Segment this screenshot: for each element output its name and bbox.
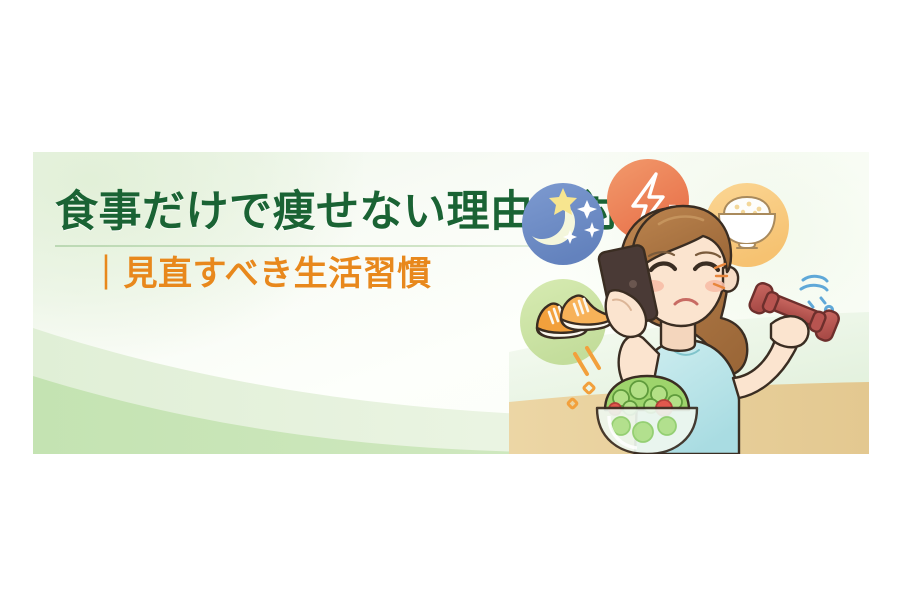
article-header-banner: 食事だけで痩せない理由と対処 ｜見直すべき生活習慣	[33, 152, 869, 454]
title-divider	[55, 245, 559, 247]
banner-illustration	[509, 152, 869, 454]
page-canvas: 食事だけで痩せない理由と対処 ｜見直すべき生活習慣	[0, 0, 900, 600]
salad-bowl-icon	[597, 376, 697, 454]
sleep-badge	[522, 183, 604, 265]
